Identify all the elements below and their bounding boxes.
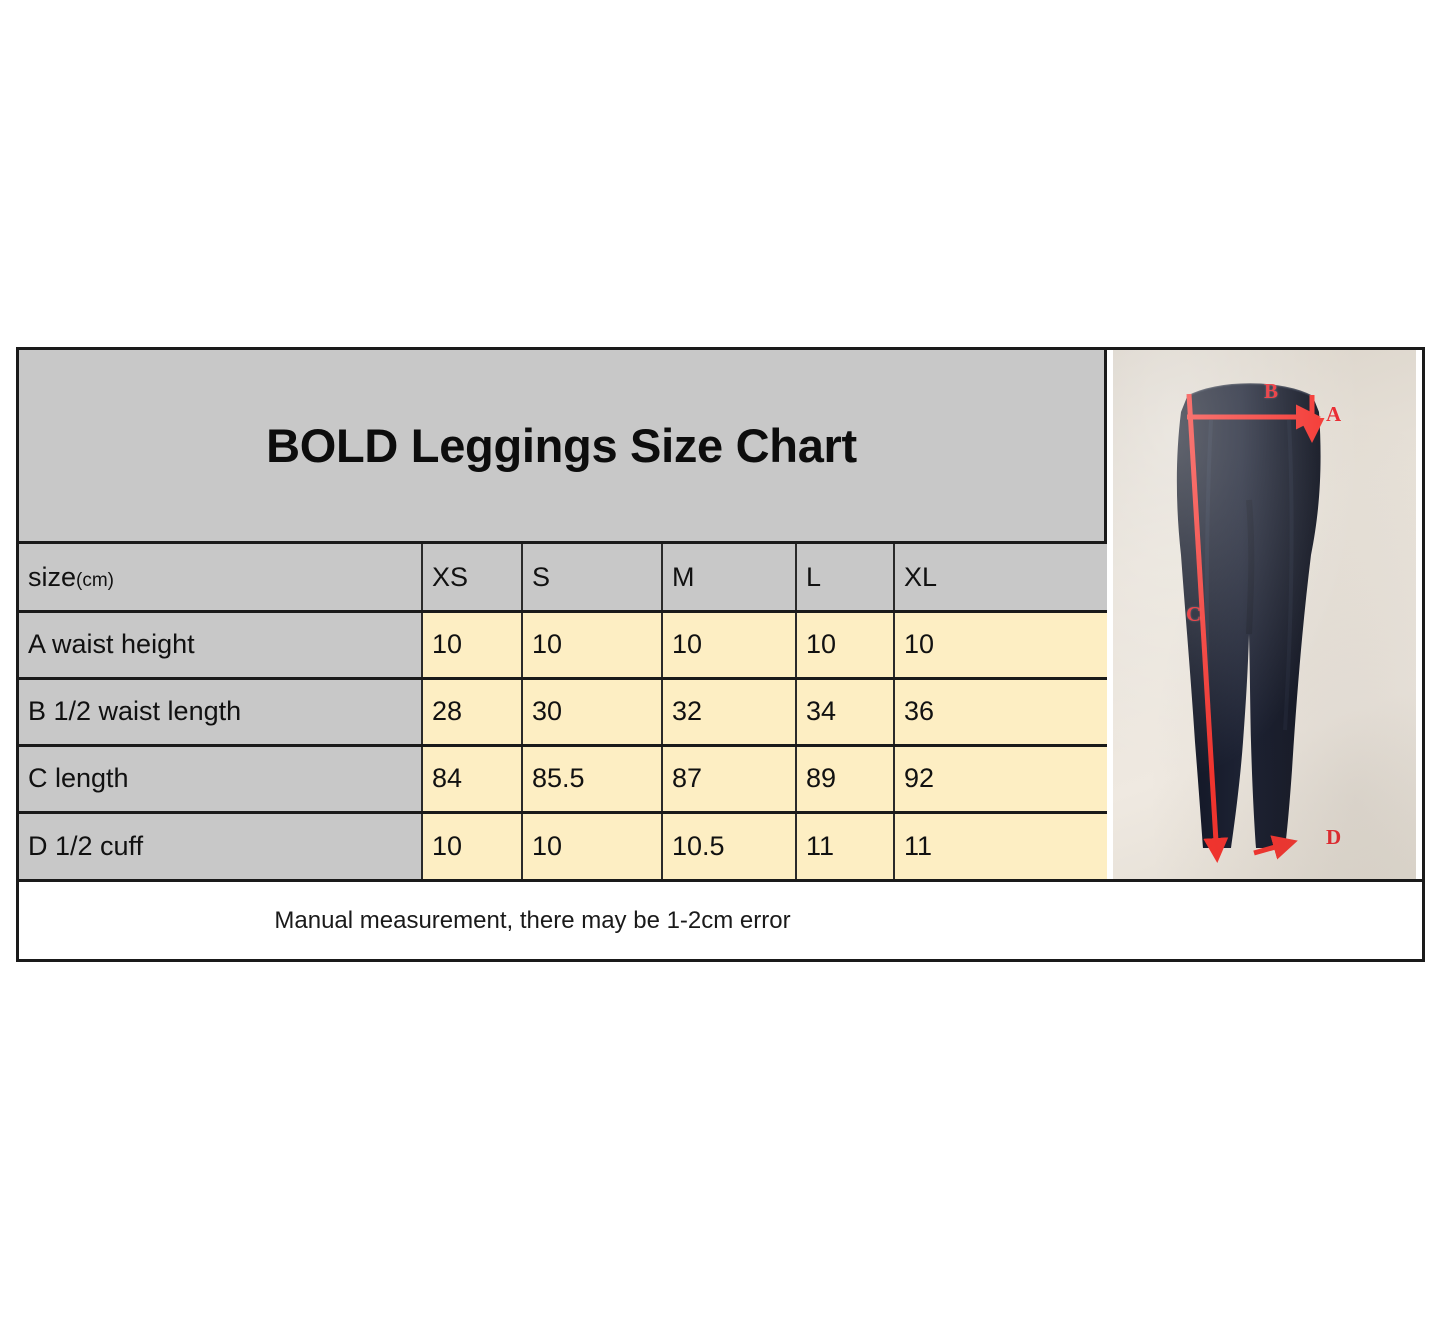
column-header-xl: XL <box>894 544 1107 611</box>
cell-a-s: 10 <box>522 611 662 678</box>
measurement-disclaimer: Manual measurement, there may be 1-2cm e… <box>274 907 790 935</box>
column-header-m: M <box>662 544 796 611</box>
table-header-row: size(cm) XS S M L XL <box>19 544 1107 611</box>
cell-c-m: 87 <box>662 745 796 812</box>
cell-d-l: 11 <box>796 812 894 879</box>
row-label-c-length: C length <box>19 745 422 812</box>
chart-upper-section: BOLD Leggings Size Chart size(cm) XS S M… <box>19 350 1422 879</box>
size-chart-container: BOLD Leggings Size Chart size(cm) XS S M… <box>16 347 1425 962</box>
cell-d-s: 10 <box>522 812 662 879</box>
cell-b-s: 30 <box>522 678 662 745</box>
table-row: A waist height 10 10 10 10 10 <box>19 611 1107 678</box>
chart-title-band: BOLD Leggings Size Chart <box>19 350 1104 544</box>
row-label-d-half-cuff: D 1/2 cuff <box>19 812 422 879</box>
measurement-label-b: B <box>1264 381 1278 402</box>
column-header-l: L <box>796 544 894 611</box>
row-label-b-half-waist-length: B 1/2 waist length <box>19 678 422 745</box>
column-header-xs: XS <box>422 544 522 611</box>
cell-a-xs: 10 <box>422 611 522 678</box>
leggings-diagram-svg <box>1113 350 1416 879</box>
measurement-label-d: D <box>1326 827 1341 848</box>
cell-d-m: 10.5 <box>662 812 796 879</box>
table-row: C length 84 85.5 87 89 92 <box>19 745 1107 812</box>
cell-c-xs: 84 <box>422 745 522 812</box>
table-row: D 1/2 cuff 10 10 10.5 11 11 <box>19 812 1107 879</box>
cell-c-s: 85.5 <box>522 745 662 812</box>
table-pane: BOLD Leggings Size Chart size(cm) XS S M… <box>19 350 1107 879</box>
row-label-a-waist-height: A waist height <box>19 611 422 678</box>
cell-a-xl: 10 <box>894 611 1107 678</box>
cell-a-l: 10 <box>796 611 894 678</box>
cell-b-xl: 36 <box>894 678 1107 745</box>
size-header-label: size <box>28 562 76 592</box>
cell-d-xl: 11 <box>894 812 1107 879</box>
product-photo-pane: A B C D <box>1107 350 1422 879</box>
size-measurement-table: size(cm) XS S M L XL A waist height 10 1… <box>19 544 1107 879</box>
measurement-label-a: A <box>1326 404 1341 425</box>
page-title: BOLD Leggings Size Chart <box>266 418 857 473</box>
footnote-band: Manual measurement, there may be 1-2cm e… <box>19 879 1422 959</box>
cell-b-l: 34 <box>796 678 894 745</box>
cell-c-l: 89 <box>796 745 894 812</box>
cell-b-m: 32 <box>662 678 796 745</box>
cell-c-xl: 92 <box>894 745 1107 812</box>
measurement-label-c: C <box>1186 604 1201 625</box>
table-row: B 1/2 waist length 28 30 32 34 36 <box>19 678 1107 745</box>
leggings-photo: A B C D <box>1113 350 1416 879</box>
cell-b-xs: 28 <box>422 678 522 745</box>
cell-a-m: 10 <box>662 611 796 678</box>
column-header-s: S <box>522 544 662 611</box>
size-header-unit: (cm) <box>76 570 114 591</box>
size-unit-header: size(cm) <box>19 544 422 611</box>
cell-d-xs: 10 <box>422 812 522 879</box>
